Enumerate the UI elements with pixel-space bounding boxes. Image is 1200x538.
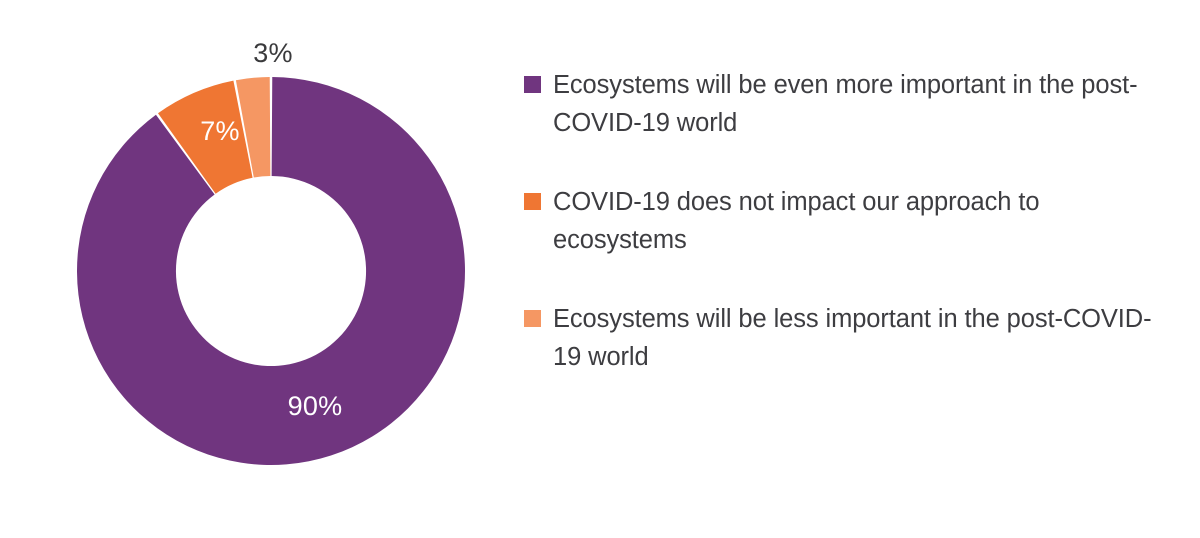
- donut-slice-data-label: 90%: [288, 391, 343, 421]
- chart-legend: Ecosystems will be even more important i…: [524, 66, 1172, 417]
- donut-slices-group: [77, 77, 465, 465]
- donut-chart-svg: 90%7%3%: [0, 0, 500, 538]
- donut-chart-plot-area: 90%7%3%: [0, 0, 500, 538]
- legend-item-label: Ecosystems will be less important in the…: [553, 300, 1163, 376]
- donut-slice[interactable]: [77, 77, 465, 465]
- legend-item[interactable]: COVID-19 does not impact our approach to…: [524, 183, 1172, 259]
- donut-slice-data-label: 3%: [253, 38, 292, 68]
- legend-item-label: Ecosystems will be even more important i…: [553, 66, 1163, 142]
- legend-item-label: COVID-19 does not impact our approach to…: [553, 183, 1163, 259]
- legend-swatch-purple: [524, 76, 541, 93]
- legend-item[interactable]: Ecosystems will be even more important i…: [524, 66, 1172, 142]
- legend-item[interactable]: Ecosystems will be less important in the…: [524, 300, 1172, 376]
- donut-chart-figure: 90%7%3% Ecosystems will be even more imp…: [0, 0, 1200, 538]
- donut-slice-data-label: 7%: [200, 116, 239, 146]
- legend-swatch-light-orange: [524, 310, 541, 327]
- legend-swatch-dark-orange: [524, 193, 541, 210]
